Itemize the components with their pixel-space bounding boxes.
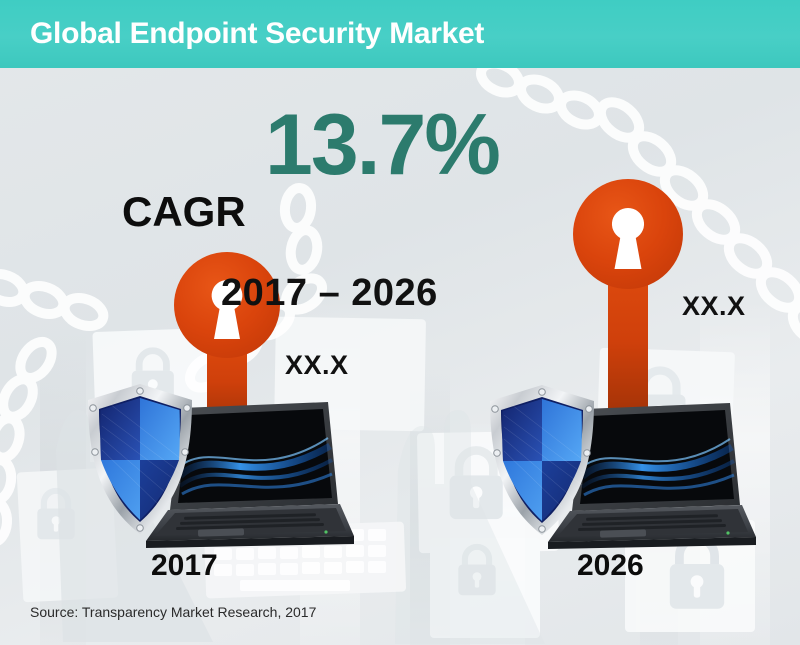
cagr-label: CAGR (122, 191, 246, 233)
year-label-2026: 2026 (577, 549, 644, 583)
infographic-canvas: Global Endpoint Security Market CAGR 13.… (0, 0, 800, 645)
page-title: Global Endpoint Security Market (30, 17, 484, 51)
source-note: Source: Transparency Market Research, 20… (30, 604, 316, 620)
cagr-period: 2017 – 2026 (221, 274, 438, 312)
year-label-2017: 2017 (151, 549, 218, 583)
cagr-value: 13.7% (265, 102, 499, 188)
value-label-2026: XX.X (682, 291, 746, 322)
bar-group-2026[interactable]: XX.X (460, 165, 790, 600)
shield-icon-2026 (482, 381, 602, 541)
value-label-2017: XX.X (285, 350, 349, 381)
shield-icon-2017 (80, 380, 200, 540)
cagr-block: CAGR 13.7% 2017 – 2026 (0, 90, 620, 230)
header-bar: Global Endpoint Security Market (0, 0, 800, 68)
